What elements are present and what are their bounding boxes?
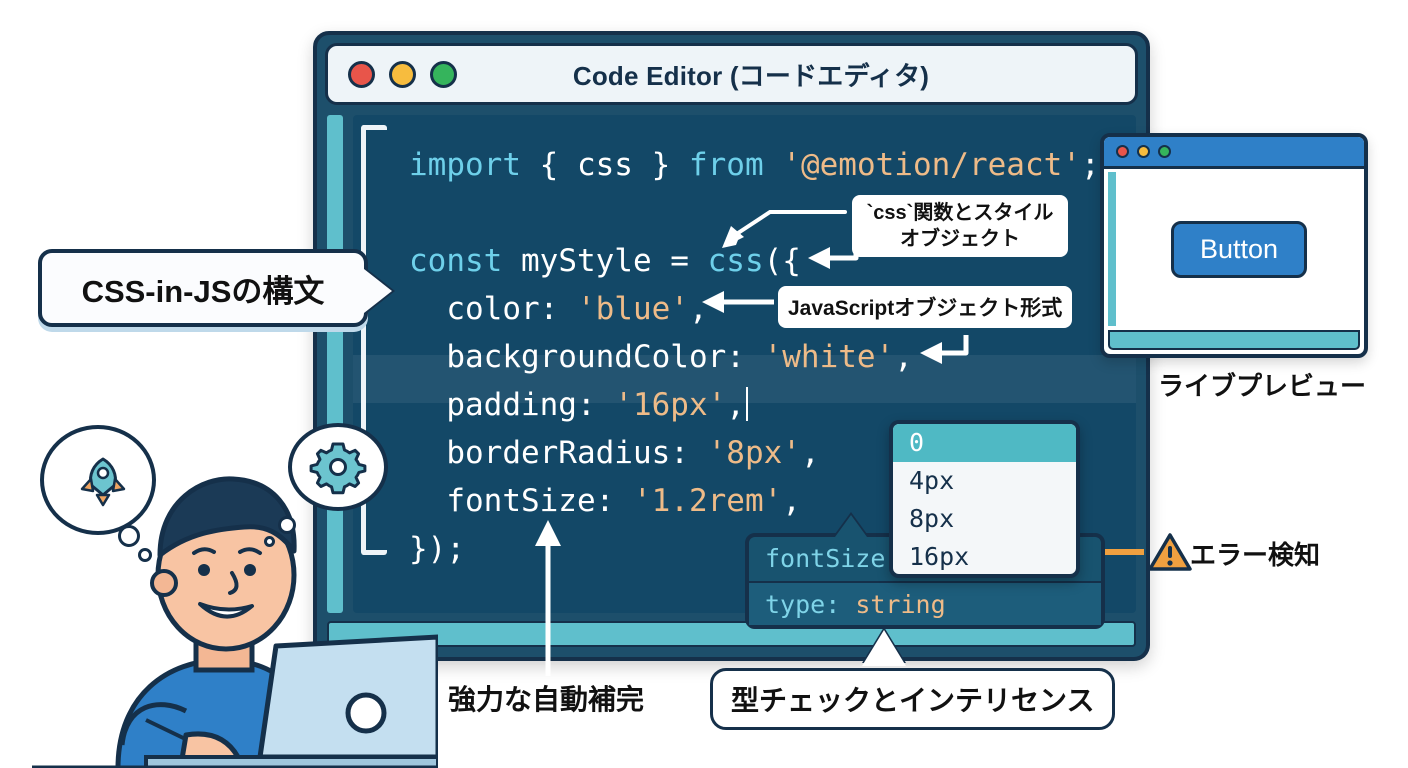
thought-bubble-small-4: [264, 536, 275, 547]
autocomplete-dropdown[interactable]: 04px8px16px: [889, 420, 1080, 578]
preview-titlebar: [1104, 137, 1364, 169]
warning-triangle-icon: [1148, 532, 1192, 572]
code-token: 'white': [764, 339, 895, 375]
code-token: '1.2rem': [633, 483, 782, 519]
code-token: ,: [689, 291, 708, 327]
label-typecheck-intellisense: 型チェックとインテリセンス: [710, 668, 1115, 730]
code-token: [764, 147, 783, 183]
code-token: ,: [726, 387, 745, 423]
autocomplete-item[interactable]: 0: [893, 424, 1076, 462]
code-token: padding:: [409, 387, 614, 423]
preview-button[interactable]: Button: [1171, 221, 1307, 278]
typecheck-label-pointer: [862, 630, 906, 666]
live-preview-caption: ライブプレビュー: [1158, 366, 1366, 403]
code-line: backgroundColor: 'white',: [409, 333, 1136, 381]
code-token: ({: [764, 243, 801, 279]
preview-canvas: Button: [1118, 172, 1360, 326]
callout-css-in-js-syntax: CSS-in-JSの構文: [38, 249, 368, 327]
code-token: ,: [782, 483, 801, 519]
callout-tail: [364, 269, 392, 313]
autocomplete-item[interactable]: 8px: [893, 500, 1076, 538]
close-button[interactable]: [348, 61, 375, 88]
code-token: color:: [409, 291, 577, 327]
code-token: const: [409, 243, 502, 279]
label-css-function-line2: オブジェクト: [860, 226, 1060, 252]
illustration-canvas: Code Editor (コードエディタ) import { css } fro…: [0, 0, 1408, 768]
code-token: '@emotion/react': [782, 147, 1081, 183]
tooltip-pointer: [835, 515, 867, 537]
live-preview-window: Button: [1100, 133, 1368, 358]
code-token: ,: [801, 435, 820, 471]
code-token: import: [409, 147, 521, 183]
thought-bubble-small-2: [138, 548, 152, 562]
editor-title: Code Editor (コードエディタ): [457, 56, 1045, 93]
code-token: css: [708, 243, 764, 279]
code-token: fontSize:: [409, 483, 633, 519]
label-powerful-autocomplete: 強力な自動補完: [448, 678, 644, 718]
maximize-button[interactable]: [430, 61, 457, 88]
text-cursor: [746, 387, 748, 421]
label-javascript-object-format: JavaScriptオブジェクト形式: [778, 286, 1072, 328]
code-token: ,: [894, 339, 913, 375]
code-token: myStyle =: [502, 243, 707, 279]
code-token: 'blue': [577, 291, 689, 327]
code-token: '16px': [614, 387, 726, 423]
thought-bubble-small-3: [278, 516, 296, 534]
tooltip-type-value: string: [855, 590, 945, 619]
label-css-function-line1: `css`関数とスタイル: [860, 200, 1060, 226]
preview-left-accent-strip: [1108, 172, 1116, 326]
gear-icon: [309, 438, 367, 496]
code-token: backgroundColor:: [409, 339, 764, 375]
label-error-detection: エラー検知: [1190, 535, 1320, 572]
rocket-icon: [63, 445, 133, 515]
autocomplete-item[interactable]: 4px: [893, 462, 1076, 500]
tooltip-row-type: type: string: [749, 581, 1101, 625]
code-token: ;: [1081, 147, 1100, 183]
preview-maximize-button[interactable]: [1158, 145, 1171, 158]
thought-bubble-rocket: [40, 425, 156, 535]
code-token: css: [577, 147, 633, 183]
label-css-function-and-style-object: `css`関数とスタイル オブジェクト: [852, 195, 1068, 257]
window-controls: [348, 61, 457, 88]
preview-close-button[interactable]: [1116, 145, 1129, 158]
tooltip-fontsize-key: fontSize:: [765, 544, 900, 573]
editor-titlebar: Code Editor (コードエディタ): [325, 43, 1138, 105]
code-token: '8px': [708, 435, 801, 471]
code-token: from: [689, 147, 764, 183]
code-token: {: [521, 147, 577, 183]
thought-bubble-small-1: [118, 525, 140, 547]
code-token: }: [633, 147, 689, 183]
code-token: borderRadius:: [409, 435, 708, 471]
autocomplete-item[interactable]: 16px: [893, 538, 1076, 576]
thought-bubble-gear: [288, 423, 388, 511]
tooltip-type-key: type:: [765, 590, 840, 619]
callout-css-in-js-syntax-text: CSS-in-JSの構文: [82, 266, 325, 311]
code-line: import { css } from '@emotion/react';: [409, 141, 1136, 189]
minimize-button[interactable]: [389, 61, 416, 88]
preview-minimize-button[interactable]: [1137, 145, 1150, 158]
preview-status-bar: [1108, 330, 1360, 350]
